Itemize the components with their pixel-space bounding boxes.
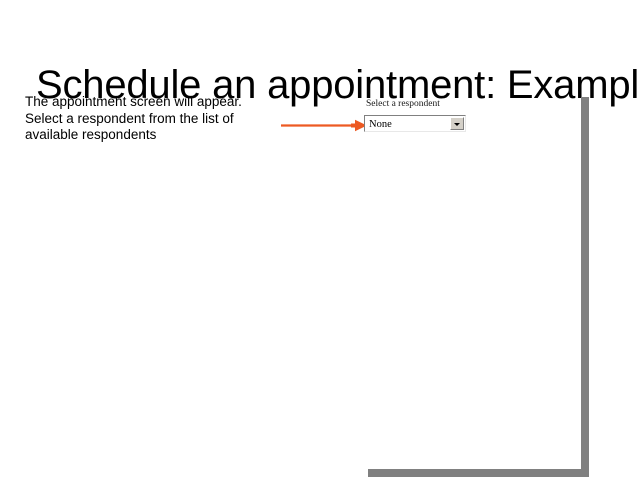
right-arrow-icon <box>281 116 369 136</box>
chevron-down-icon[interactable] <box>450 117 464 130</box>
frame-shadow-right <box>581 97 589 477</box>
respondent-dropdown-value: None <box>369 118 392 131</box>
respondent-dropdown[interactable]: None <box>364 115 466 132</box>
slide-canvas: Schedule an appointment: Example The app… <box>0 0 640 480</box>
body-text: The appointment screen will appear. Sele… <box>25 94 257 144</box>
respondent-field-label: Select a respondent <box>364 98 468 110</box>
respondent-field-group: Select a respondent None <box>364 98 468 132</box>
frame-shadow-bottom <box>368 469 589 477</box>
caret-glyph <box>454 123 460 126</box>
